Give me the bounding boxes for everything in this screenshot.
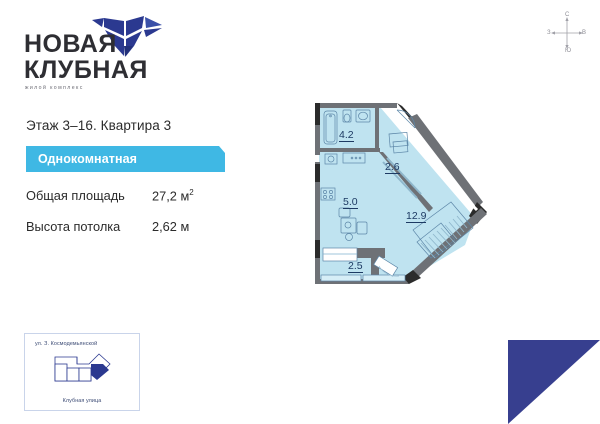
spec-row-ceiling-height: Высота потолка 2,62 м	[26, 219, 256, 234]
specs-list: Общая площадь 27,2 м2 Высота потолка 2,6…	[26, 188, 256, 234]
spec-label-ceiling-height: Высота потолка	[26, 219, 152, 234]
area-label-kitchen: 5.0	[343, 197, 358, 209]
minimap-street-label-bottom: Клубная улица	[25, 398, 139, 404]
location-minimap[interactable]: ул. З. Космодемьянской Клубная улица	[24, 333, 140, 411]
area-label-balcony: 2.5	[348, 261, 363, 273]
compass-rose: С В Ю З	[546, 12, 588, 54]
minimap-street-label-top: ул. З. Космодемьянской	[35, 341, 97, 347]
spec-row-total-area: Общая площадь 27,2 м2	[26, 188, 256, 203]
apartment-type-badge: Однокомнатная	[26, 146, 225, 172]
spec-value-total-area: 27,2 м2	[152, 188, 194, 203]
spec-value-ceiling-height: 2,62 м	[152, 219, 189, 234]
compass-label-west: З	[547, 30, 551, 36]
compass-label-north: С	[565, 12, 569, 18]
brand-name-line-2: КЛУБНАЯ	[24, 58, 148, 83]
brand-name-line-1: НОВАЯ	[24, 32, 117, 57]
floor-and-apartment-label: Этаж 3–16. Квартира 3	[26, 118, 256, 133]
area-label-hallway: 2.6	[385, 162, 400, 174]
square-unit-superscript: 2	[189, 188, 193, 197]
brand-subtitle: жилой комплекс	[25, 85, 84, 91]
apartment-type-label: Однокомнатная	[38, 152, 137, 166]
area-label-bathroom: 4.2	[339, 130, 354, 142]
compass-label-south: Ю	[565, 48, 571, 54]
spec-label-total-area: Общая площадь	[26, 188, 152, 203]
corner-decoration-triangle	[508, 340, 600, 424]
brand-logo: НОВАЯ КЛУБНАЯ жилой комплекс	[22, 14, 282, 84]
area-label-living-room: 12.9	[406, 211, 426, 223]
apartment-floorplan[interactable]: 4.2 2.6 5.0 12.9 2.5	[305, 90, 500, 302]
apartment-info-panel: Этаж 3–16. Квартира 3 Однокомнатная Обща…	[26, 118, 256, 234]
minimap-building-diagram	[47, 351, 121, 391]
compass-label-east: В	[582, 30, 586, 36]
floorplan-drawing	[305, 90, 500, 302]
